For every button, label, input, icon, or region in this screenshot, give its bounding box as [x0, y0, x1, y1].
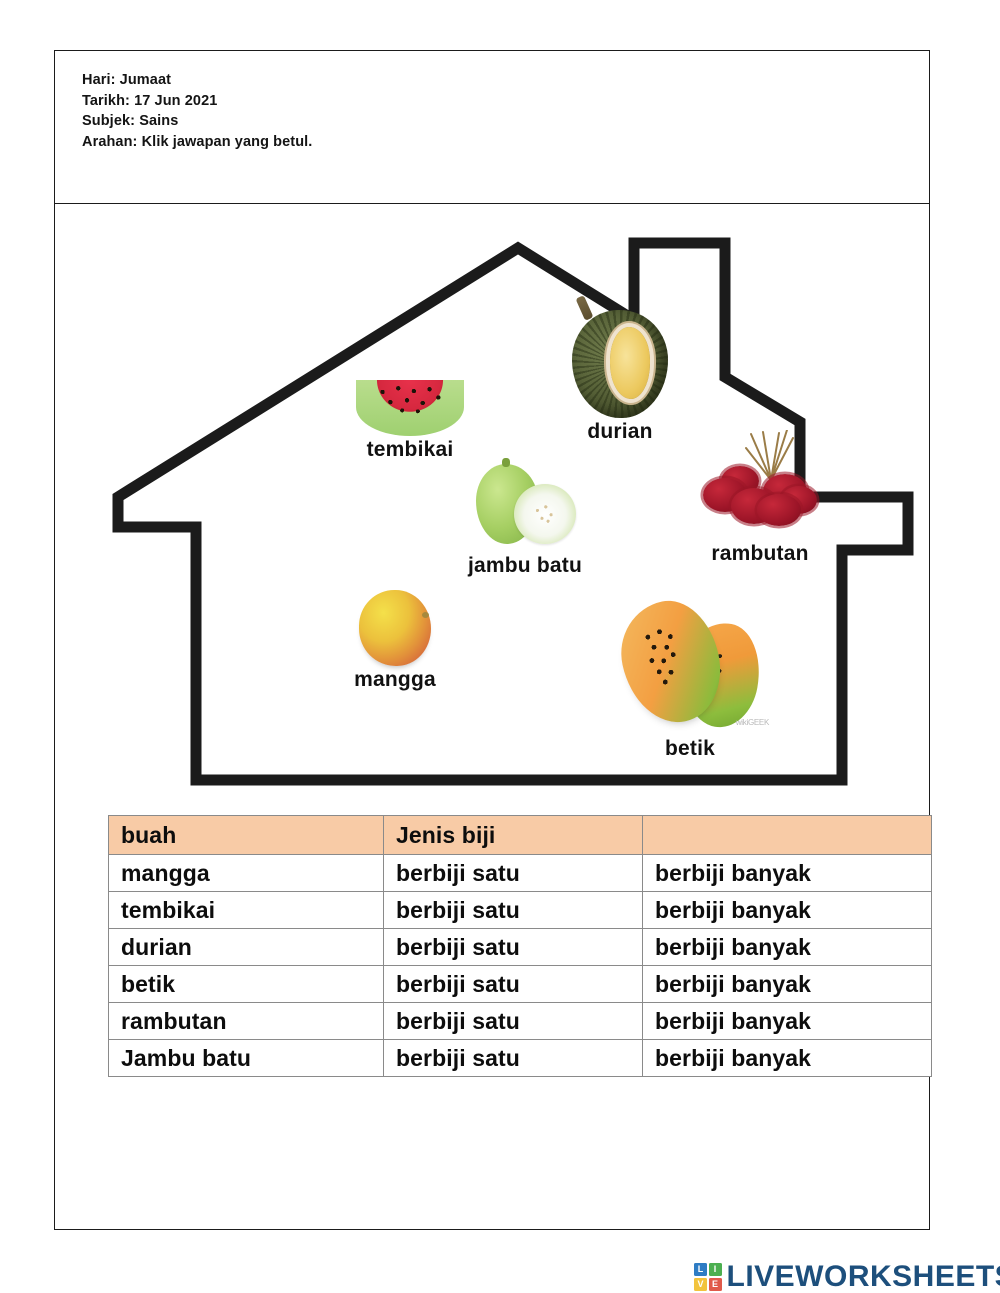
papaya-icon: wikiGEEK: [570, 595, 810, 735]
guava-icon: [410, 460, 640, 552]
option-mangga-berbiji-banyak[interactable]: berbiji banyak: [643, 855, 932, 892]
fruit-item-mangga: mangga: [295, 590, 495, 692]
fruit-seed-answer-table: buah Jenis biji mangga berbiji satu berb…: [108, 815, 932, 1077]
liveworksheets-logo[interactable]: L I V E LIVEWORKSHEETS: [694, 1262, 1000, 1292]
option-tembikai-berbiji-satu[interactable]: berbiji satu: [384, 892, 643, 929]
logo-tile-i: I: [709, 1263, 722, 1276]
fruit-item-durian: durian: [525, 310, 715, 444]
cell-fruit-rambutan: rambutan: [109, 1003, 384, 1040]
option-rambutan-berbiji-satu[interactable]: berbiji satu: [384, 1003, 643, 1040]
table-row: betik berbiji satu berbiji banyak: [109, 966, 932, 1003]
liveworksheets-logo-tiles: L I V E: [694, 1263, 722, 1291]
table-row: rambutan berbiji satu berbiji banyak: [109, 1003, 932, 1040]
fruit-item-jambu-batu: jambu batu: [410, 460, 640, 578]
fruit-label-mangga: mangga: [295, 668, 495, 692]
fruit-label-rambutan: rambutan: [645, 542, 875, 566]
header-line-arahan: Arahan: Klik jawapan yang betul.: [82, 132, 782, 153]
rambutan-icon: [645, 430, 875, 540]
house-illustration: tembikai durian jambu batu: [100, 225, 940, 805]
option-betik-berbiji-satu[interactable]: berbiji satu: [384, 966, 643, 1003]
image-watermark: wikiGEEK: [736, 718, 769, 727]
option-rambutan-berbiji-banyak[interactable]: berbiji banyak: [643, 1003, 932, 1040]
table-header-row: buah Jenis biji: [109, 816, 932, 855]
fruit-item-betik: wikiGEEK betik: [570, 595, 810, 761]
table-row: tembikai berbiji satu berbiji banyak: [109, 892, 932, 929]
option-tembikai-berbiji-banyak[interactable]: berbiji banyak: [643, 892, 932, 929]
cell-fruit-betik: betik: [109, 966, 384, 1003]
cell-fruit-jambu-batu: Jambu batu: [109, 1040, 384, 1077]
fruit-label-jambu-batu: jambu batu: [410, 554, 640, 578]
column-header-buah: buah: [109, 816, 384, 855]
option-betik-berbiji-banyak[interactable]: berbiji banyak: [643, 966, 932, 1003]
fruit-label-tembikai: tembikai: [300, 438, 520, 462]
option-jambu-batu-berbiji-banyak[interactable]: berbiji banyak: [643, 1040, 932, 1077]
logo-tile-e: E: [709, 1278, 722, 1291]
mango-icon: [295, 590, 495, 666]
fruit-item-tembikai: tembikai: [300, 380, 520, 462]
header-line-hari: Hari: Jumaat: [82, 70, 782, 91]
header-line-subjek: Subjek: Sains: [82, 111, 782, 132]
worksheet-header: Hari: Jumaat Tarikh: 17 Jun 2021 Subjek:…: [82, 70, 782, 152]
option-durian-berbiji-satu[interactable]: berbiji satu: [384, 929, 643, 966]
table-row: Jambu batu berbiji satu berbiji banyak: [109, 1040, 932, 1077]
cell-fruit-tembikai: tembikai: [109, 892, 384, 929]
watermelon-icon: [300, 380, 520, 436]
liveworksheets-wordmark: LIVEWORKSHEETS: [727, 1262, 1000, 1292]
option-jambu-batu-berbiji-satu[interactable]: berbiji satu: [384, 1040, 643, 1077]
logo-tile-v: V: [694, 1278, 707, 1291]
column-header-blank: [643, 816, 932, 855]
logo-tile-l: L: [694, 1263, 707, 1276]
header-divider: [55, 203, 930, 204]
fruit-item-rambutan: rambutan: [645, 430, 875, 566]
header-line-tarikh: Tarikh: 17 Jun 2021: [82, 91, 782, 112]
cell-fruit-mangga: mangga: [109, 855, 384, 892]
cell-fruit-durian: durian: [109, 929, 384, 966]
option-durian-berbiji-banyak[interactable]: berbiji banyak: [643, 929, 932, 966]
fruit-label-betik: betik: [570, 737, 810, 761]
option-mangga-berbiji-satu[interactable]: berbiji satu: [384, 855, 643, 892]
table-row: durian berbiji satu berbiji banyak: [109, 929, 932, 966]
column-header-jenis-biji: Jenis biji: [384, 816, 643, 855]
table-body: mangga berbiji satu berbiji banyak tembi…: [109, 855, 932, 1077]
table-row: mangga berbiji satu berbiji banyak: [109, 855, 932, 892]
durian-icon: [525, 310, 715, 418]
